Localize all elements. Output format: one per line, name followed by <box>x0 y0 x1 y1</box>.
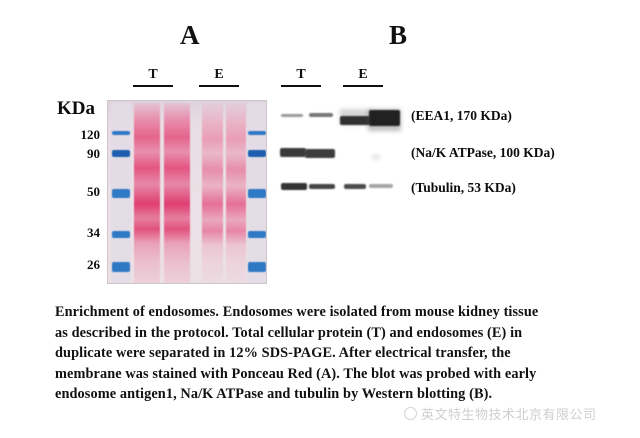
figure-canvas: A B T E T E KDa 120 90 50 34 26 <box>0 0 640 438</box>
mw-label-120: 120 <box>60 128 100 141</box>
lane-label: T <box>133 68 173 82</box>
band-eea1-e2 <box>369 110 400 126</box>
band-tubulin-e2 <box>369 184 393 188</box>
caption-line: Enrichment of endosomes. Endosomes were … <box>55 302 615 323</box>
mw-label-26: 26 <box>60 258 100 271</box>
band-atpase-t2 <box>305 149 335 158</box>
kda-axis-label: KDa <box>57 99 95 118</box>
band-atpase-t1 <box>280 148 306 157</box>
lane-label: E <box>343 68 383 82</box>
ladder-band-50 <box>248 189 266 198</box>
lane-header-a-e: E <box>199 68 239 87</box>
watermark: 英文特生物技术北京有限公司 <box>404 404 597 423</box>
ladder-band-50 <box>112 189 130 198</box>
panel-b-letter: B <box>389 22 407 49</box>
band-tubulin-t2 <box>309 184 335 189</box>
lane-header-b-t: T <box>281 68 321 87</box>
ladder-band-34 <box>112 231 130 238</box>
blot-target-label-tubulin: (Tubulin, 53 KDa) <box>411 181 516 195</box>
lane-underline <box>343 85 383 87</box>
mw-ladder-right <box>247 103 267 283</box>
watermark-text: 英文特生物技术北京有限公司 <box>421 404 597 423</box>
company-logo-icon <box>404 407 417 420</box>
ladder-band-34 <box>248 231 266 238</box>
band-eea1-t2 <box>309 113 333 117</box>
ladder-band-120 <box>248 131 266 135</box>
blot-target-label-eea1: (EEA1, 170 KDa) <box>411 109 512 123</box>
mw-ladder-left <box>111 103 131 283</box>
band-eea1-t1 <box>281 114 303 117</box>
western-blot-image <box>276 95 400 215</box>
ladder-band-26 <box>248 262 266 272</box>
lane-label: T <box>281 68 321 82</box>
band-tubulin-t1 <box>281 183 307 190</box>
band-eea1-e1 <box>340 116 370 125</box>
mw-label-34: 34 <box>60 226 100 239</box>
lane-header-a-t: T <box>133 68 173 87</box>
caption-line: membrane was stained with Ponceau Red (A… <box>55 364 615 385</box>
figure-caption: Enrichment of endosomes. Endosomes were … <box>55 302 615 405</box>
gel-lane-t2 <box>164 103 190 283</box>
blot-target-label-atpase: (Na/K ATPase, 100 KDa) <box>411 146 555 160</box>
lane-underline <box>281 85 321 87</box>
gel-lane-t1 <box>134 103 160 283</box>
band-atpase-e-trace <box>372 155 380 159</box>
lane-label: E <box>199 68 239 82</box>
ladder-band-90 <box>112 150 130 157</box>
lane-underline <box>199 85 239 87</box>
gel-lane-e1 <box>202 103 223 283</box>
lane-underline <box>133 85 173 87</box>
caption-line: duplicate were separated in 12% SDS-PAGE… <box>55 343 615 364</box>
lane-header-b-e: E <box>343 68 383 87</box>
caption-line: as described in the protocol. Total cell… <box>55 323 615 344</box>
ladder-band-120 <box>112 131 130 135</box>
caption-line: endosome antigen1, Na/K ATPase and tubul… <box>55 384 615 405</box>
gel-lane-e2 <box>226 103 246 283</box>
mw-label-90: 90 <box>60 147 100 160</box>
band-tubulin-e1 <box>344 184 366 189</box>
ladder-band-26 <box>112 262 130 272</box>
panel-a-letter: A <box>180 22 200 49</box>
ladder-band-90 <box>248 150 266 157</box>
mw-label-50: 50 <box>60 185 100 198</box>
ponceau-gel-image <box>107 100 267 284</box>
